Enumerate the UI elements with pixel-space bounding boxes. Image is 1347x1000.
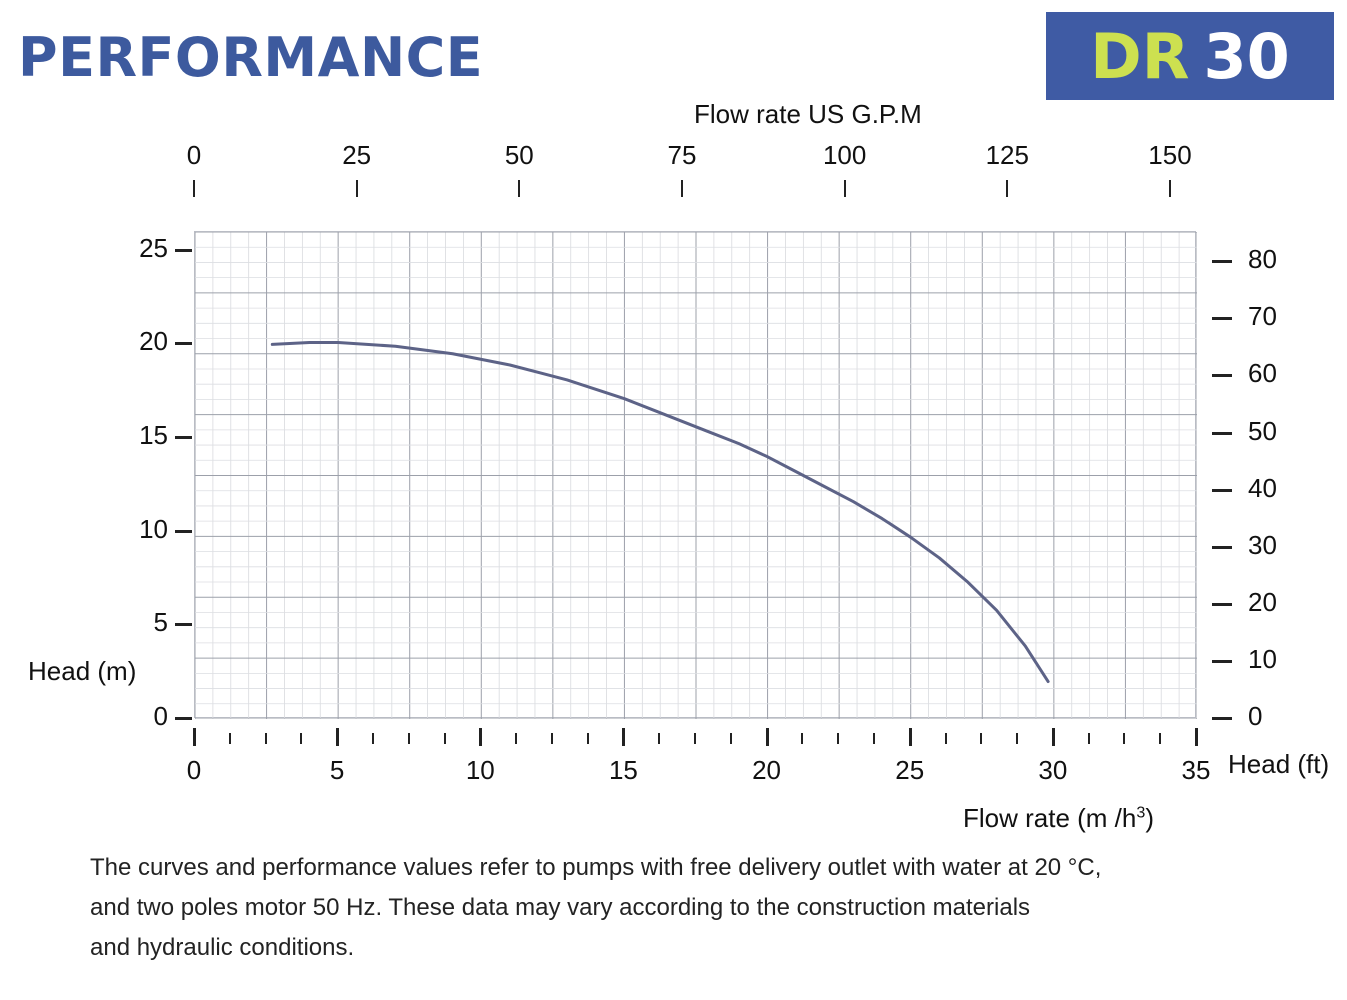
left-axis-title: Head (m) [28, 656, 136, 687]
top-axis-tick-100 [844, 180, 846, 197]
bottom-axis-minor-tick [837, 733, 839, 744]
right-axis-tick-20 [1212, 603, 1232, 606]
top-axis-tick-label-100: 100 [823, 140, 866, 171]
top-axis-tick-125 [1006, 180, 1008, 197]
top-axis-tick-label-150: 150 [1148, 140, 1191, 171]
left-axis-tick-0 [175, 717, 192, 720]
bottom-axis-minor-tick [694, 733, 696, 744]
right-axis-tick-60 [1212, 374, 1232, 377]
bottom-axis-minor-tick [658, 733, 660, 744]
right-axis-tick-50 [1212, 432, 1232, 435]
left-axis-tick-25 [175, 249, 192, 252]
right-axis-tick-label-50: 50 [1248, 416, 1277, 447]
bottom-axis-minor-tick [551, 733, 553, 744]
left-axis-tick-label-0: 0 [154, 701, 168, 732]
bottom-axis-tick-20 [766, 728, 769, 746]
bottom-axis-tick-label-30: 30 [1038, 755, 1067, 786]
bottom-axis-minor-tick [444, 733, 446, 744]
bottom-axis-minor-tick [801, 733, 803, 744]
bottom-axis-title-text: Flow rate (m /h [963, 803, 1136, 833]
bottom-axis-minor-tick [945, 733, 947, 744]
right-axis-tick-80 [1212, 260, 1232, 263]
left-axis-tick-5 [175, 623, 192, 626]
top-axis-tick-label-0: 0 [187, 140, 201, 171]
bottom-axis-minor-tick [515, 733, 517, 744]
bottom-axis-tick-5 [336, 728, 339, 746]
left-axis-tick-label-20: 20 [139, 326, 168, 357]
right-axis-tick-0 [1212, 717, 1232, 720]
right-axis-tick-10 [1212, 660, 1232, 663]
bottom-axis-minor-tick [265, 733, 267, 744]
bottom-axis-tick-label-20: 20 [752, 755, 781, 786]
right-axis-tick-label-70: 70 [1248, 301, 1277, 332]
bottom-axis-tick-label-5: 5 [330, 755, 344, 786]
bottom-axis-minor-tick [1016, 733, 1018, 744]
left-axis-tick-20 [175, 342, 192, 345]
right-axis-tick-label-10: 10 [1248, 644, 1277, 675]
right-axis-tick-label-20: 20 [1248, 587, 1277, 618]
bottom-axis-minor-tick [300, 733, 302, 744]
left-axis-tick-15 [175, 436, 192, 439]
bottom-axis-minor-tick [1088, 733, 1090, 744]
bottom-axis-minor-tick [587, 733, 589, 744]
top-axis-tick-label-50: 50 [505, 140, 534, 171]
left-axis-tick-label-25: 25 [139, 233, 168, 264]
left-axis-tick-10 [175, 530, 192, 533]
right-axis-tick-label-30: 30 [1248, 530, 1277, 561]
bottom-axis-title: Flow rate (m /h3) [963, 803, 1154, 834]
left-axis-tick-label-5: 5 [154, 607, 168, 638]
top-axis-title: Flow rate US G.P.M [694, 99, 922, 130]
bottom-axis-minor-tick [730, 733, 732, 744]
bottom-axis-minor-tick [408, 733, 410, 744]
bottom-axis-tick-label-15: 15 [609, 755, 638, 786]
right-axis-tick-40 [1212, 489, 1232, 492]
bottom-axis-tick-10 [479, 728, 482, 746]
footnote-line-2: and two poles motor 50 Hz. These data ma… [90, 888, 1320, 928]
bottom-axis-tick-label-35: 35 [1182, 755, 1211, 786]
bottom-axis-minor-tick [229, 733, 231, 744]
top-axis-tick-25 [356, 180, 358, 197]
top-axis-tick-label-75: 75 [668, 140, 697, 171]
top-axis-tick-label-125: 125 [986, 140, 1029, 171]
right-axis-tick-70 [1212, 317, 1232, 320]
right-axis-tick-label-40: 40 [1248, 473, 1277, 504]
bottom-axis-tick-35 [1195, 728, 1198, 746]
top-axis-tick-0 [193, 180, 195, 197]
top-axis-tick-75 [681, 180, 683, 197]
bottom-axis-tick-label-0: 0 [187, 755, 201, 786]
bottom-axis-minor-tick [873, 733, 875, 744]
bottom-axis-tick-label-25: 25 [895, 755, 924, 786]
footnote-line-1: The curves and performance values refer … [90, 848, 1320, 888]
bottom-axis-minor-tick [372, 733, 374, 744]
right-axis-title: Head (ft) [1228, 749, 1329, 780]
bottom-axis-title-exponent: 3 [1136, 803, 1145, 821]
top-axis-tick-50 [518, 180, 520, 197]
bottom-axis-tick-25 [909, 728, 912, 746]
footnote-line-3: and hydraulic conditions. [90, 928, 1320, 968]
right-axis-tick-label-60: 60 [1248, 358, 1277, 389]
left-axis-tick-label-10: 10 [139, 514, 168, 545]
bottom-axis-tick-0 [193, 728, 196, 746]
top-axis-tick-label-25: 25 [342, 140, 371, 171]
bottom-axis-title-suffix: ) [1145, 803, 1154, 833]
grid-lines [195, 232, 1197, 719]
bottom-axis-minor-tick [980, 733, 982, 744]
plot-graphics [195, 232, 1197, 719]
bottom-axis-minor-tick [1123, 733, 1125, 744]
bottom-axis-tick-30 [1052, 728, 1055, 746]
right-axis-tick-label-80: 80 [1248, 244, 1277, 275]
bottom-axis-tick-label-10: 10 [466, 755, 495, 786]
top-axis-tick-150 [1169, 180, 1171, 197]
bottom-axis-tick-15 [622, 728, 625, 746]
right-axis-tick-30 [1212, 546, 1232, 549]
left-axis-tick-label-15: 15 [139, 420, 168, 451]
right-axis-tick-label-0: 0 [1248, 701, 1262, 732]
footnote: The curves and performance values refer … [90, 848, 1320, 968]
bottom-axis-minor-tick [1159, 733, 1161, 744]
plot-area [194, 231, 1196, 718]
